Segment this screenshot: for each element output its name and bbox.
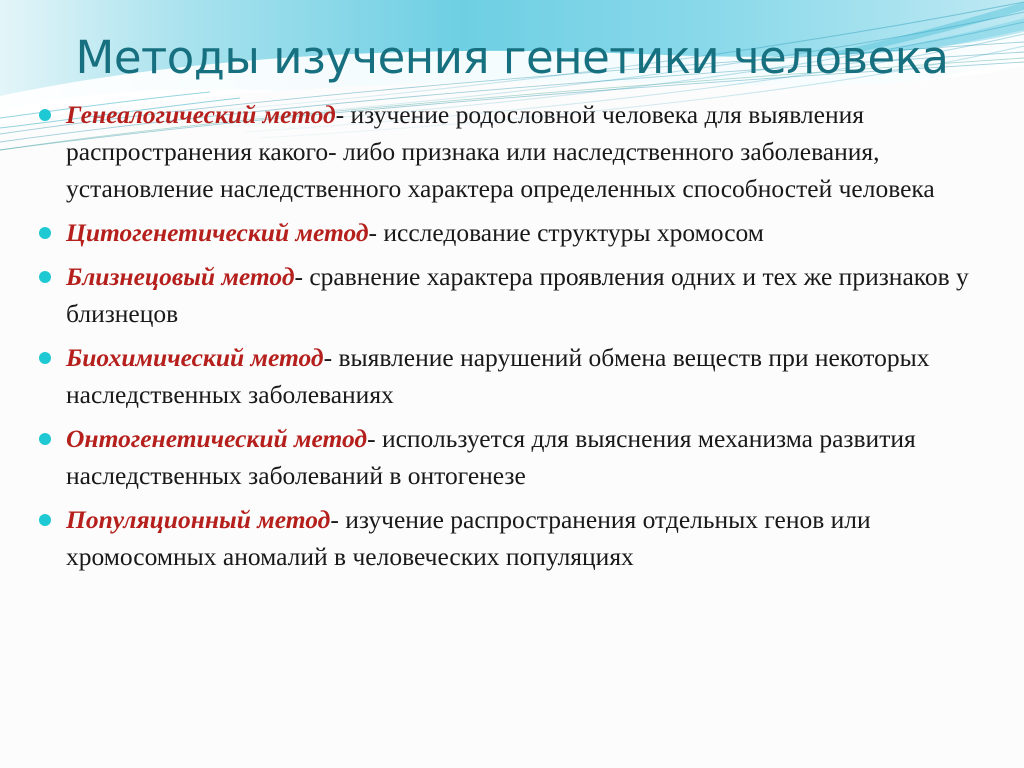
bullet-dot-icon xyxy=(39,352,51,364)
list-item: Генеалогический метод- изучение родослов… xyxy=(28,96,996,207)
list-item: Популяционный метод- изучение распростра… xyxy=(28,501,996,575)
presentation-slide: Методы изучения генетики человека Генеал… xyxy=(0,0,1024,768)
bullet-dot-icon xyxy=(39,109,51,121)
list-item-term: Генеалогический метод xyxy=(66,100,336,129)
list-item: Биохимический метод- выявление нарушений… xyxy=(28,339,996,413)
bullet-dot-icon xyxy=(39,271,51,283)
title-container: Методы изучения генетики человека xyxy=(0,24,1024,90)
bullet-list: Генеалогический метод- изучение родослов… xyxy=(28,96,996,582)
page-title: Методы изучения генетики человека xyxy=(76,35,949,80)
list-item-description: - исследование структуры хромосом xyxy=(369,218,764,247)
list-item: Онтогенетический метод- используется для… xyxy=(28,420,996,494)
list-item: Близнецовый метод- сравнение характера п… xyxy=(28,258,996,332)
list-item-term: Онтогенетический метод xyxy=(66,424,367,453)
list-item-term: Цитогенетический метод xyxy=(66,218,369,247)
list-item-term: Биохимический метод xyxy=(66,343,324,372)
bullet-dot-icon xyxy=(39,227,51,239)
bullet-dot-icon xyxy=(39,514,51,526)
bullet-dot-icon xyxy=(39,433,51,445)
list-item-term: Близнецовый метод xyxy=(66,262,294,291)
list-item-term: Популяционный метод xyxy=(66,505,330,534)
list-item: Цитогенетический метод- исследование стр… xyxy=(28,214,996,251)
